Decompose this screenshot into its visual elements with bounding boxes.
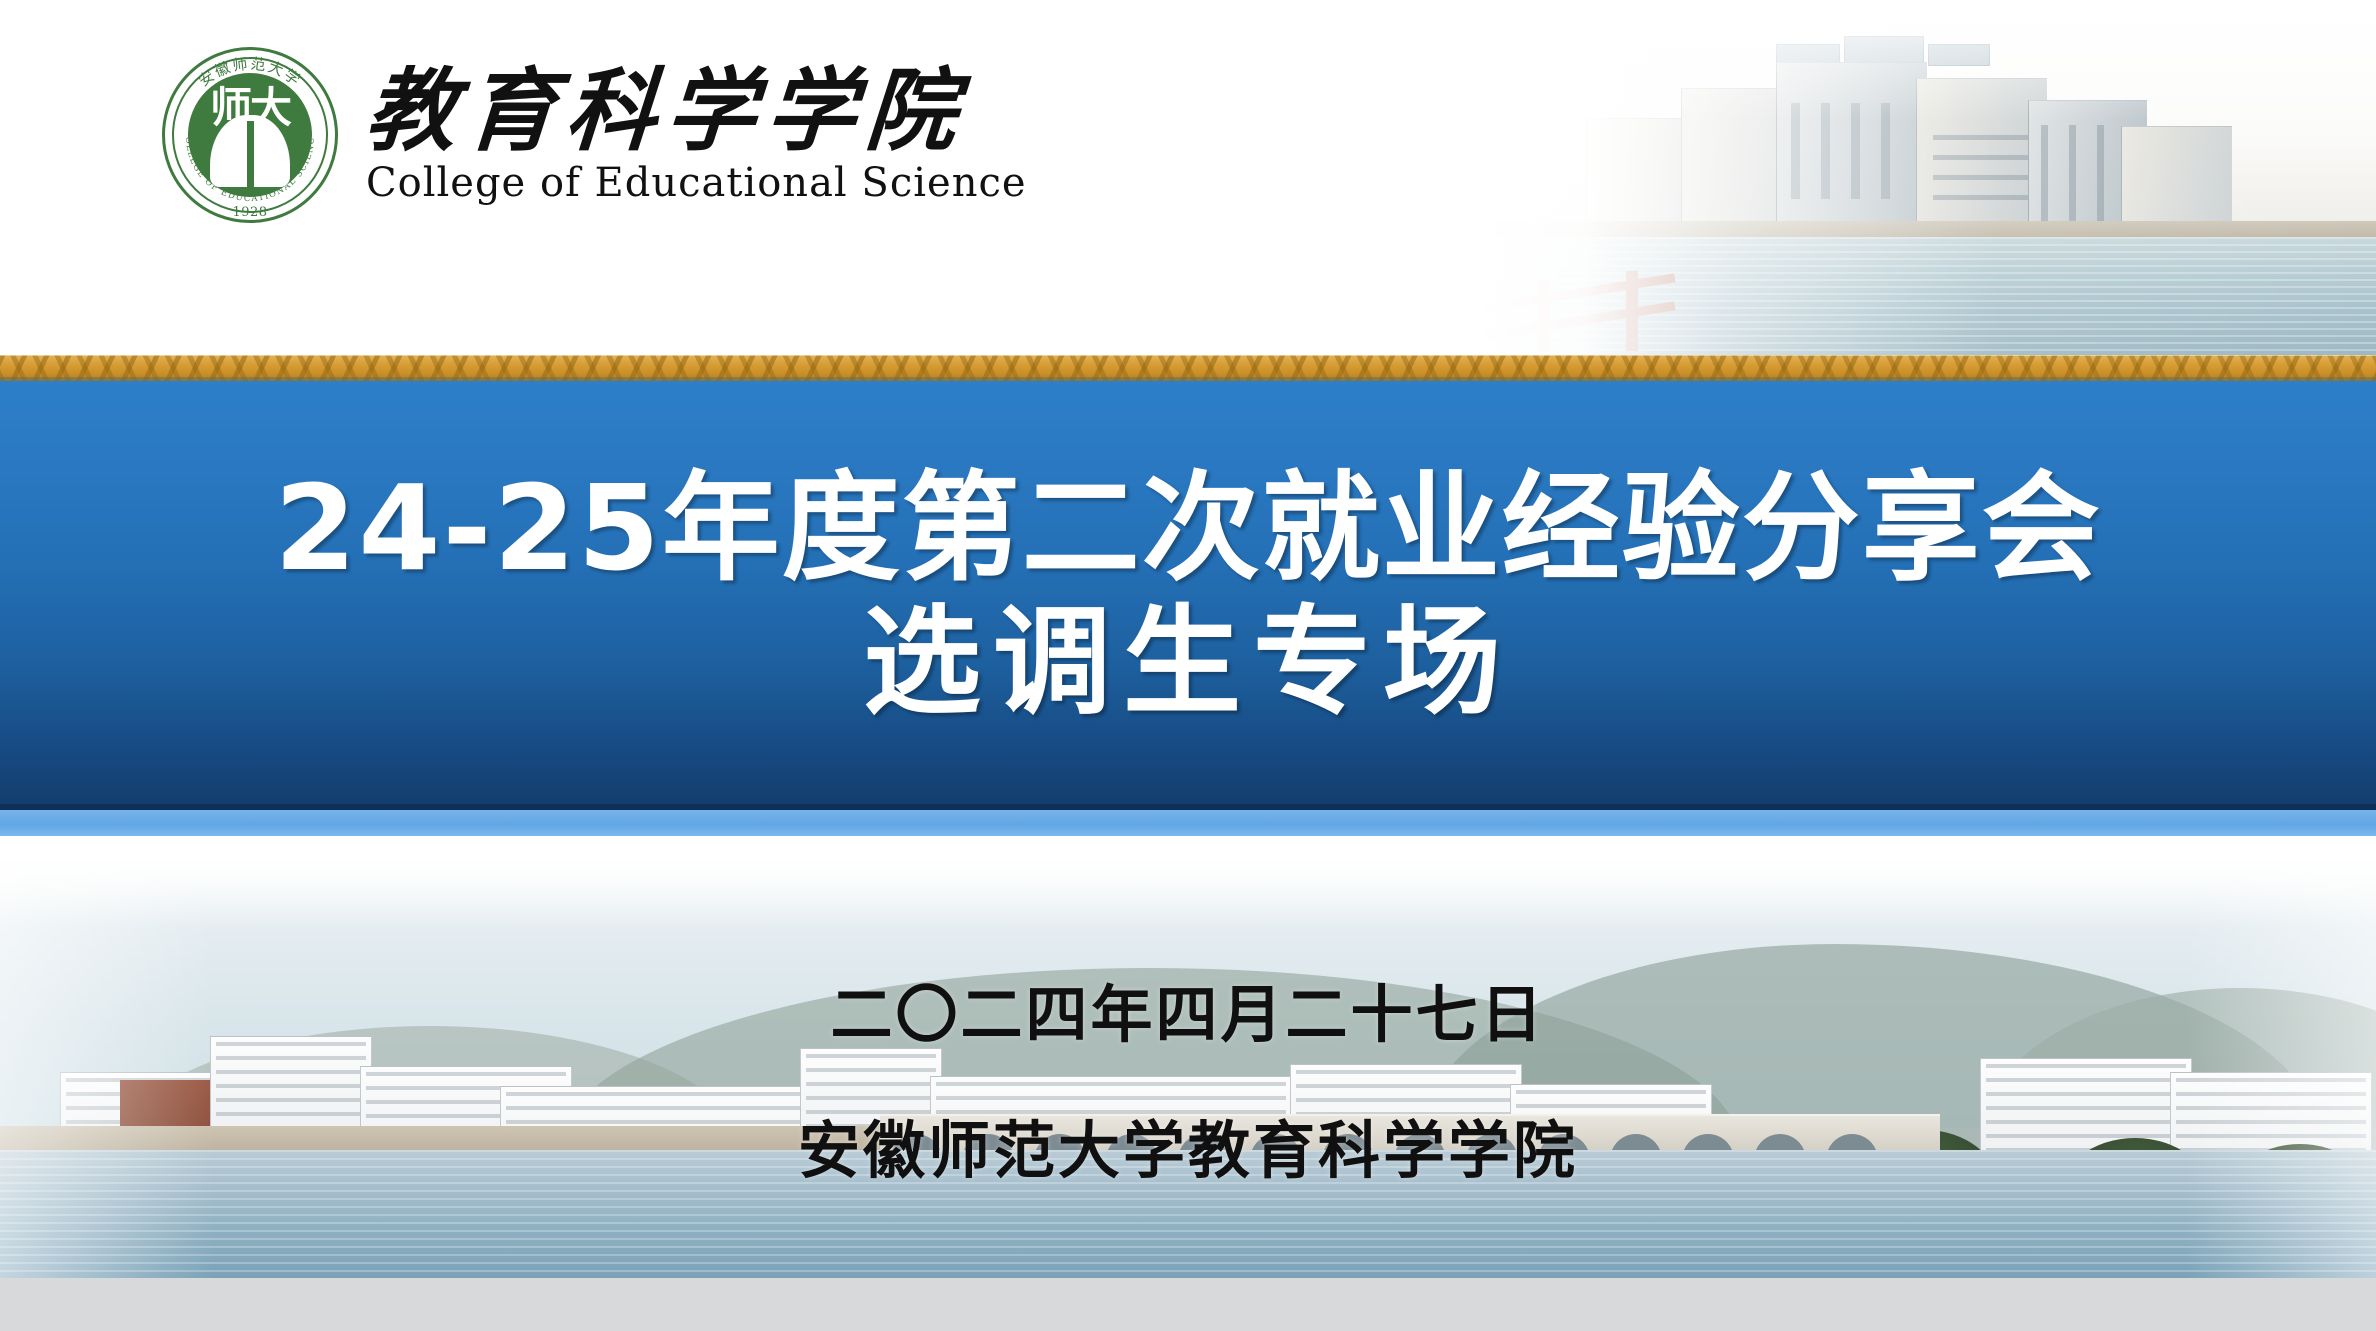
title-slide: 安徽师范大学 COLLEGE OF EDUCATIONAL SCIENCE 师大… xyxy=(0,0,2376,1331)
seal-disc: 师大 xyxy=(188,73,312,197)
panorama-side-fade xyxy=(0,858,2376,1278)
library-building-photo xyxy=(1476,0,2376,355)
college-logo: 安徽师范大学 COLLEGE OF EDUCATIONAL SCIENCE 师大… xyxy=(160,45,1027,225)
gold-decorative-divider xyxy=(0,355,2376,381)
title-line-2: 选调生专场 xyxy=(863,599,1513,726)
title-line-1: 24-25年度第二次就业经验分享会 xyxy=(274,465,2101,592)
title-banner: 24-25年度第二次就业经验分享会 选调生专场 xyxy=(0,381,2376,810)
college-name-cn: 教育科学学院 xyxy=(363,66,1030,158)
seal-founding-year: 1928 xyxy=(160,205,340,220)
banner-underline-strip xyxy=(0,810,2376,836)
college-name-en: College of Educational Science xyxy=(366,162,1027,204)
bottom-gray-strip xyxy=(0,1278,2376,1331)
campus-panorama-photo xyxy=(0,858,2376,1278)
photo-top-fade xyxy=(1476,0,2376,355)
white-separator xyxy=(0,836,2376,858)
header-band: 安徽师范大学 COLLEGE OF EDUCATIONAL SCIENCE 师大… xyxy=(0,0,2376,355)
university-seal-icon: 安徽师范大学 COLLEGE OF EDUCATIONAL SCIENCE 师大… xyxy=(160,45,340,225)
logo-text-block: 教育科学学院 College of Educational Science xyxy=(366,66,1027,204)
